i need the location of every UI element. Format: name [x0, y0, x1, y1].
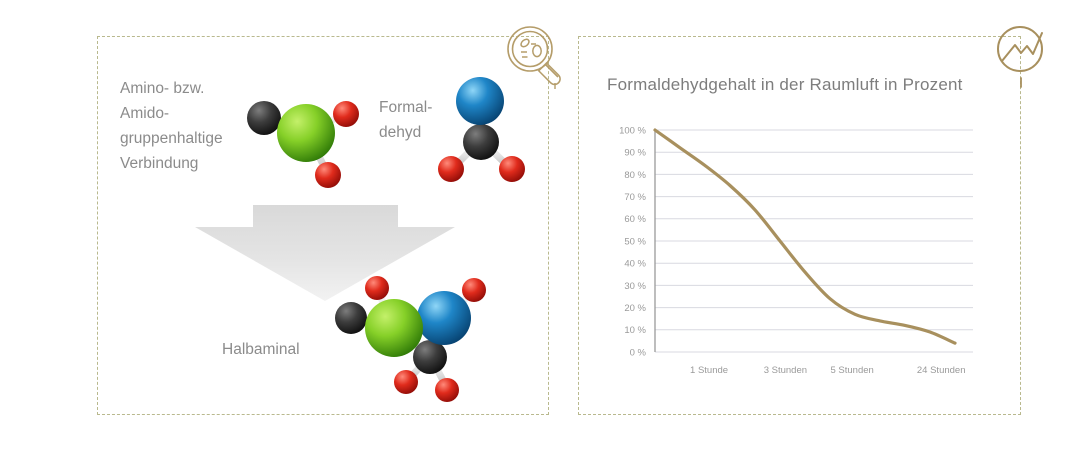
chart-y-tick-labels: 0 %10 %20 %30 %40 %50 %60 %70 %80 %90 %1…: [619, 125, 646, 358]
formaldehyde-line-chart: 0 %10 %20 %30 %40 %50 %60 %70 %80 %90 %1…: [598, 118, 998, 380]
y-tick-label: 10 %: [624, 325, 646, 336]
x-tick-label: 24 Stunden: [917, 365, 966, 376]
y-tick-label: 60 %: [624, 214, 646, 225]
halbaminal-label: Halbaminal: [222, 339, 300, 361]
y-tick-label: 0 %: [630, 347, 647, 358]
x-tick-label: 1 Stunde: [690, 365, 728, 376]
trend-chart-icon: [988, 19, 1060, 91]
y-tick-label: 70 %: [624, 192, 646, 203]
y-tick-label: 90 %: [624, 148, 646, 159]
y-tick-label: 20 %: [624, 303, 646, 314]
x-tick-label: 5 Stunden: [830, 365, 873, 376]
chart-x-tick-labels: 1 Stunde3 Stunden5 Stunden24 Stunden: [690, 365, 965, 376]
y-tick-label: 80 %: [624, 170, 646, 181]
chart-title: Formaldehydgehalt in der Raumluft in Pro…: [607, 75, 963, 95]
y-tick-label: 40 %: [624, 259, 646, 270]
y-tick-label: 50 %: [624, 236, 646, 247]
y-tick-label: 30 %: [624, 281, 646, 292]
chart-data-line: [655, 130, 955, 343]
formaldehyde-molecule: [428, 68, 540, 194]
y-tick-label: 100 %: [619, 125, 646, 136]
halbaminal-molecule: [320, 268, 520, 404]
x-tick-label: 3 Stunden: [764, 365, 807, 376]
amino-compound-molecule: [236, 76, 376, 196]
